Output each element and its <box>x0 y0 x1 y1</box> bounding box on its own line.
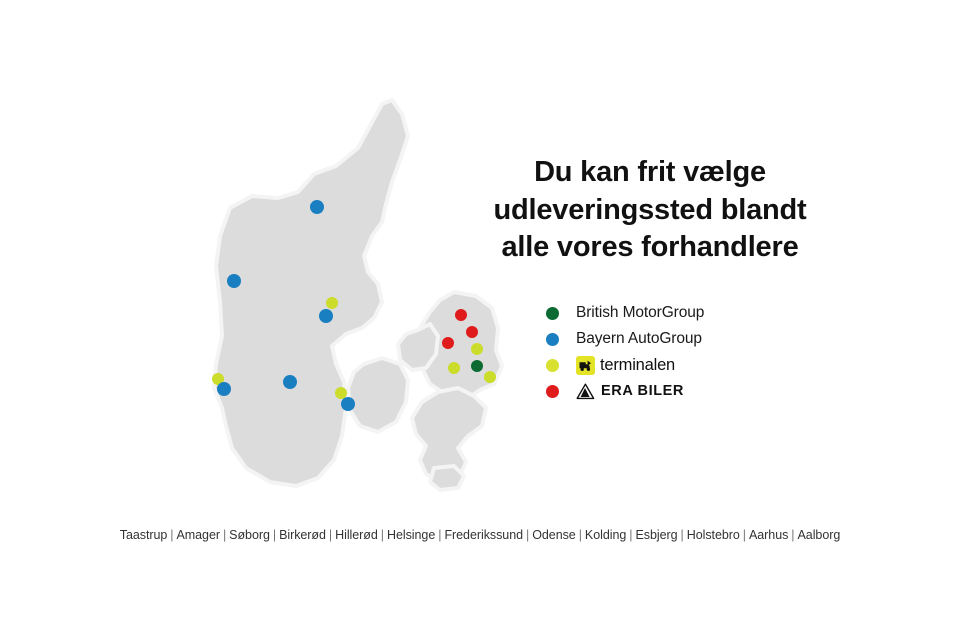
page-title: Du kan frit vælge udleveringssted blandt… <box>450 154 850 267</box>
page-title-line-3: alle vores forhandlere <box>450 229 850 267</box>
city-holstebro: Holstebro <box>686 528 741 542</box>
map-dot-aarhus-bayern[interactable] <box>319 309 333 323</box>
era-biler-wordmark: ERA BILER <box>601 383 684 399</box>
map-dot-odense-terminalen[interactable] <box>335 387 347 399</box>
legend-item-british-motorgroup[interactable]: British MotorGroup <box>546 300 846 326</box>
legend-label-british-motorgroup: British MotorGroup <box>576 304 704 322</box>
map-dot-hillerod-era[interactable] <box>466 326 478 338</box>
legend-item-era-biler[interactable]: ERA BILER <box>546 378 846 404</box>
city-hiller-d: Hillerød <box>334 528 379 542</box>
city-kolding: Kolding <box>584 528 627 542</box>
city-s-borg: Søborg <box>228 528 271 542</box>
city-aalborg: Aalborg <box>797 528 842 542</box>
terminalen-logo: terminalen <box>576 356 675 375</box>
legend-swatch-green <box>546 307 559 320</box>
terminalen-wordmark: terminalen <box>600 356 675 375</box>
legend-swatch-red <box>546 385 559 398</box>
map-dot-soborg-british[interactable] <box>471 360 483 372</box>
city-separator: | <box>379 528 386 542</box>
map-dot-birkerod-terminalen[interactable] <box>471 343 483 355</box>
landmass-south-tip <box>430 466 464 490</box>
map-dot-kolding[interactable] <box>283 375 297 389</box>
city-birker-d: Birkerød <box>278 528 327 542</box>
city-helsinge: Helsinge <box>386 528 436 542</box>
city-aarhus: Aarhus <box>748 528 789 542</box>
legend-item-bayern-autogroup[interactable]: Bayern AutoGroup <box>546 326 846 352</box>
city-separator: | <box>168 528 175 542</box>
map-dot-helsinge-era[interactable] <box>455 309 467 321</box>
legend-swatch-blue <box>546 333 559 346</box>
era-biler-logo: ERA BILER <box>576 383 684 400</box>
dealer-legend: British MotorGroup Bayern AutoGroup te <box>546 300 846 404</box>
city-list: Taastrup|Amager|Søborg|Birkerød|Hillerød… <box>0 528 960 542</box>
legend-swatch-yellow <box>546 359 559 372</box>
map-dot-esbjerg-bayern[interactable] <box>217 382 231 396</box>
city-taastrup: Taastrup <box>119 528 169 542</box>
city-odense: Odense <box>531 528 576 542</box>
city-amager: Amager <box>176 528 221 542</box>
map-dot-odense-bayern[interactable] <box>341 397 355 411</box>
legend-label-bayern-autogroup: Bayern AutoGroup <box>576 330 702 348</box>
legend-item-terminalen[interactable]: terminalen <box>546 352 846 378</box>
era-biler-triangle-icon <box>576 383 596 400</box>
city-separator: | <box>741 528 748 542</box>
page-title-line-1: Du kan frit vælge <box>450 154 850 192</box>
landmass-funen <box>348 358 408 432</box>
page-title-line-2: udleveringssted blandt <box>450 192 850 230</box>
map-dot-taastrup-terminalen[interactable] <box>448 362 460 374</box>
map-dot-aarhus-terminalen[interactable] <box>326 297 338 309</box>
city-separator: | <box>679 528 686 542</box>
map-dot-holstebro[interactable] <box>227 274 241 288</box>
terminalen-mark-icon <box>576 356 595 375</box>
poster-canvas: Du kan frit vælge udleveringssted blandt… <box>0 0 960 640</box>
map-dot-aalborg[interactable] <box>310 200 324 214</box>
city-separator: | <box>577 528 584 542</box>
city-esbjerg: Esbjerg <box>634 528 678 542</box>
city-frederikssund: Frederikssund <box>443 528 524 542</box>
city-separator: | <box>271 528 278 542</box>
city-separator: | <box>789 528 796 542</box>
map-dot-frederikssund-era[interactable] <box>442 337 454 349</box>
map-dot-amager-terminalen[interactable] <box>484 371 496 383</box>
